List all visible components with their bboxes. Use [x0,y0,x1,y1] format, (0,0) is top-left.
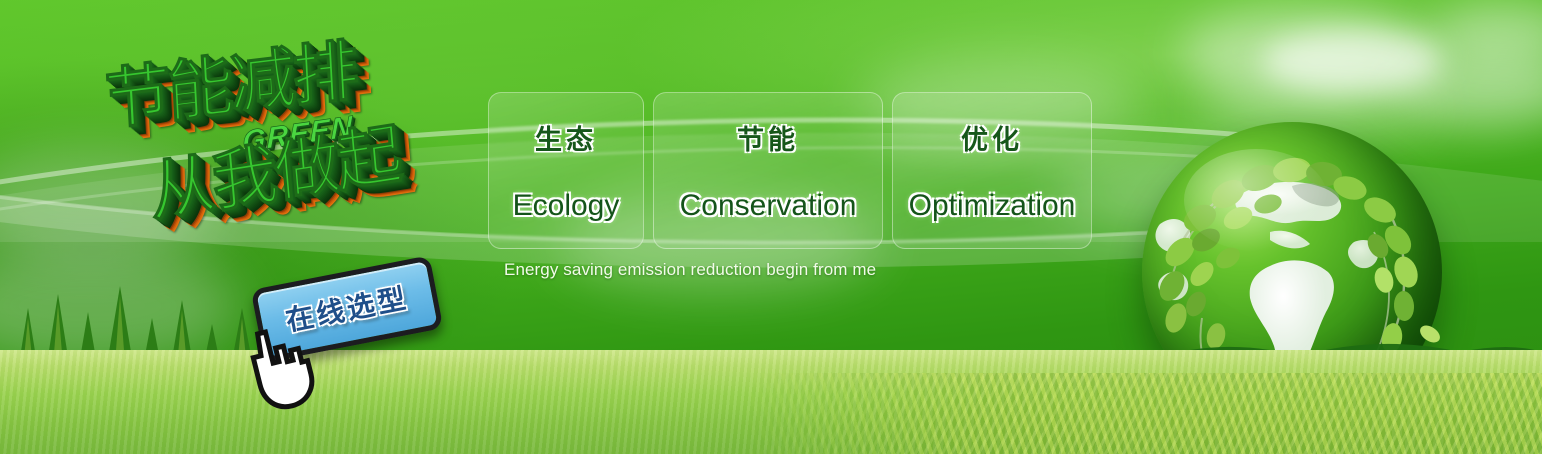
leaf-litter [740,373,1542,454]
headline-3d: 节能减排 GREEN 从我做起 [96,28,486,258]
feature-card-optimization[interactable]: 优化 Optimization [892,92,1092,249]
pointing-hand-cursor-icon [236,318,320,414]
card-title-en: Optimization [909,189,1076,223]
tagline: Energy saving emission reduction begin f… [504,260,876,280]
feature-card-ecology[interactable]: 生态 Ecology [488,92,644,249]
grass-field [0,350,1542,454]
feature-card-row: 生态 Ecology 节能 Conservation 优化 Optimizati… [488,92,1092,249]
feature-card-conservation[interactable]: 节能 Conservation [653,92,883,249]
card-title-en: Conservation [680,189,857,223]
eco-promo-banner: 节能减排 GREEN 从我做起 生态 Ecology 节能 Conservati… [0,0,1542,454]
card-title-cn: 优化 [961,118,1023,157]
globe-specular-gloss [1184,149,1328,251]
card-title-cn: 生态 [535,118,597,157]
card-title-en: Ecology [513,189,620,223]
card-title-cn: 节能 [737,118,799,157]
